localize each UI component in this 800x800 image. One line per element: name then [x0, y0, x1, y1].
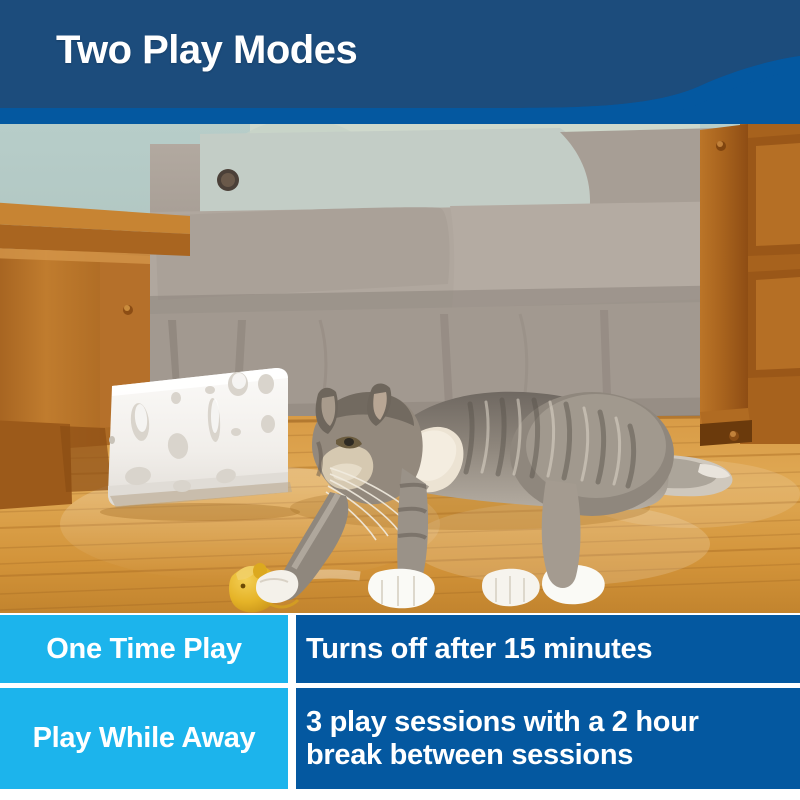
product-feature-card: Two Play Modes	[0, 0, 800, 800]
mode-description-play-while-away: 3 play sessions with a 2 hour break betw…	[296, 688, 800, 789]
mode-description-one-time-play: Turns off after 15 minutes	[296, 615, 800, 683]
product-photo	[0, 124, 800, 613]
mode-label-play-while-away: Play While Away	[0, 688, 288, 789]
page-title: Two Play Modes	[56, 26, 696, 74]
mode-description-line2: break between sessions	[306, 739, 699, 772]
mode-description-line1: Turns off after 15 minutes	[306, 633, 652, 666]
cell-divider	[288, 615, 296, 683]
table-row: One Time Play Turns off after 15 minutes	[0, 615, 800, 683]
header-banner: Two Play Modes	[0, 0, 800, 124]
cell-divider	[288, 688, 296, 789]
mode-label-one-time-play: One Time Play	[0, 615, 288, 683]
table-row: Play While Away 3 play sessions with a 2…	[0, 688, 800, 789]
play-modes-table: One Time Play Turns off after 15 minutes…	[0, 615, 800, 789]
mode-description-line1: 3 play sessions with a 2 hour	[306, 706, 699, 739]
